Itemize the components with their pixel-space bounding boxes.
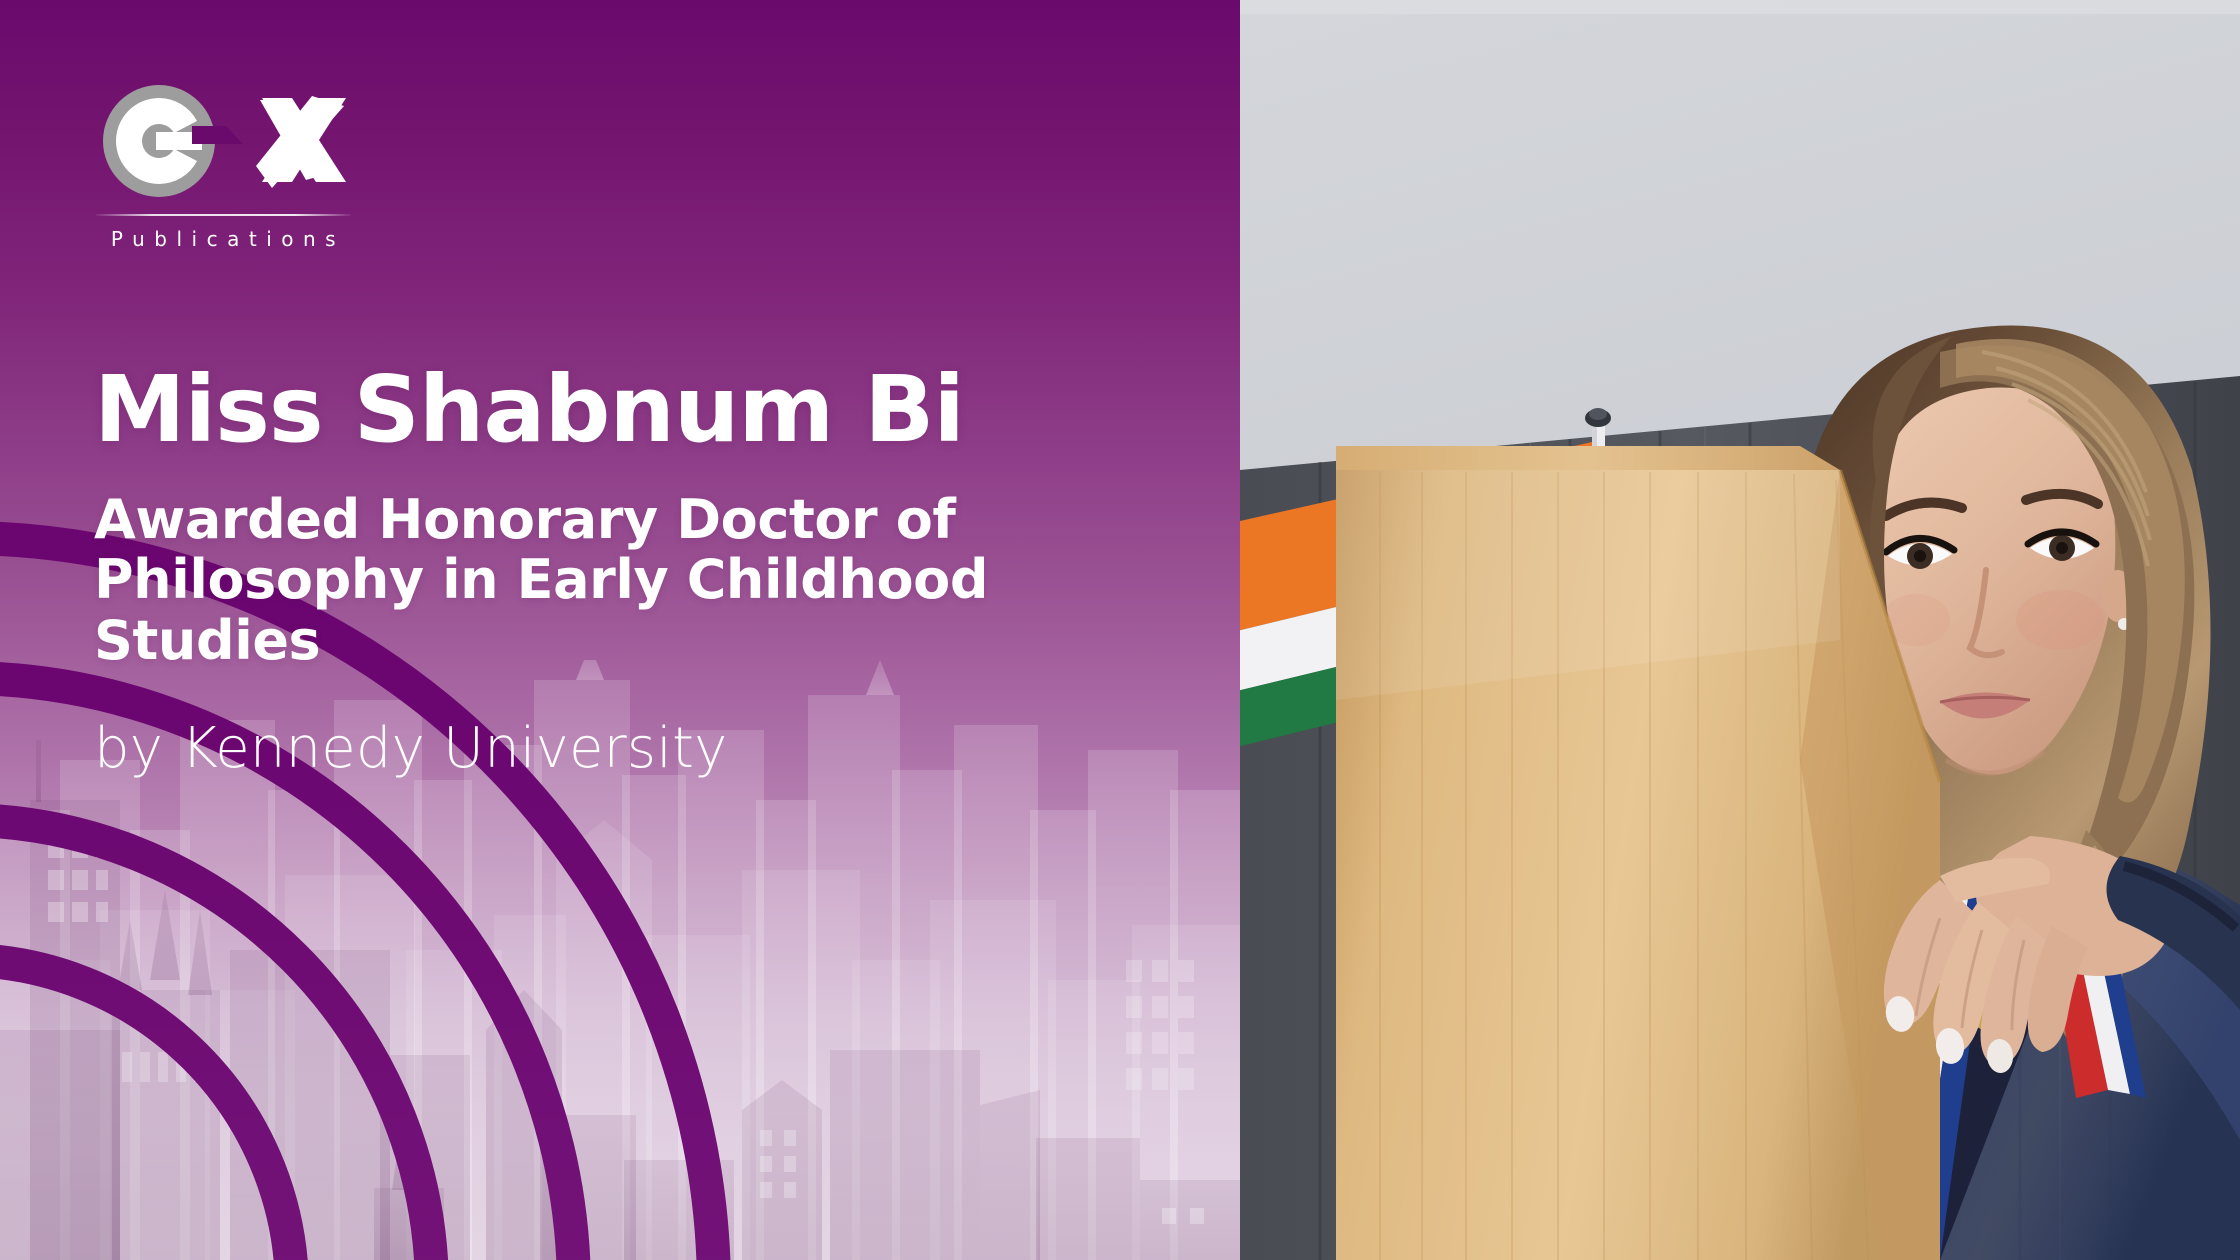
left-gradient-panel: Publications Miss Shabnum Bi Awarded Hon… <box>0 0 1240 1260</box>
logo-divider <box>96 214 351 216</box>
brand-wordmark: Publications <box>96 227 351 251</box>
subtitle-line-3: Studies <box>94 611 1174 671</box>
brand-logo[interactable]: Publications <box>96 82 386 251</box>
poster-canvas: Publications Miss Shabnum Bi Awarded Hon… <box>0 0 2240 1260</box>
speaker-photo <box>1240 0 2240 1260</box>
gx-logo-icon <box>96 82 366 200</box>
page-title: Miss Shabnum Bi <box>94 364 964 456</box>
left-panel-content: Publications Miss Shabnum Bi Awarded Hon… <box>0 0 1240 1260</box>
subtitle-line-2: Philosophy in Early Childhood <box>94 550 1174 610</box>
award-subtitle: Awarded Honorary Doctor of Philosophy in… <box>94 490 1174 671</box>
institution-byline: by Kennedy University <box>94 718 728 780</box>
subtitle-line-1: Awarded Honorary Doctor of <box>94 490 1174 550</box>
